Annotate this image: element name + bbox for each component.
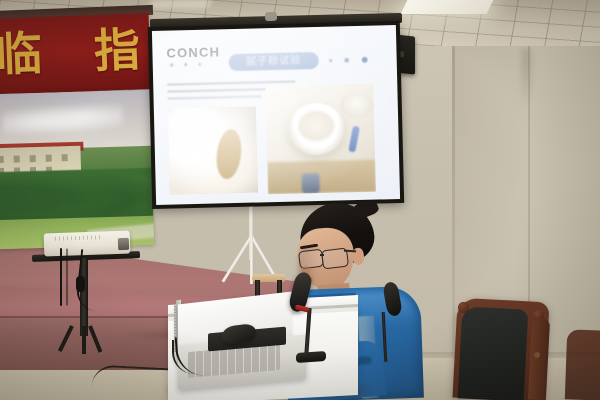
logo-subtext-marks <box>168 62 214 68</box>
glasses-bridge <box>320 254 324 256</box>
chair-stud <box>534 352 540 358</box>
chair-secondary <box>565 329 600 400</box>
photo-scene: 临 指 CONCH 腻子粉试验 <box>0 0 600 400</box>
microphone-base <box>296 351 326 363</box>
blue-stirring-stick <box>348 126 360 153</box>
projector-screen: CONCH 腻子粉试验 <box>148 21 404 209</box>
projector-plug <box>76 276 85 292</box>
ceiling-light-panel-secondary <box>148 0 212 8</box>
mural-window <box>46 155 52 162</box>
mural-window <box>62 154 68 161</box>
backdrop-mural <box>0 90 154 249</box>
chair-cushion <box>458 306 529 400</box>
chair-knob <box>458 302 469 313</box>
ceiling-light-panel <box>401 0 494 14</box>
foreground-object <box>301 173 319 193</box>
presentation-slide: CONCH 腻子粉试验 <box>152 25 400 205</box>
secondary-container <box>339 92 374 119</box>
mural-clouds <box>2 105 123 134</box>
conch-logo: CONCH <box>166 44 220 60</box>
projector-cable <box>60 248 62 306</box>
mural-window <box>14 155 20 162</box>
projector-stand-leg <box>82 326 86 354</box>
projector-lens <box>118 238 129 250</box>
banner-text: 临 指 <box>0 19 147 85</box>
slide-decoration-dots <box>327 56 371 65</box>
powder-texture <box>168 106 258 194</box>
mural-window <box>0 156 4 163</box>
mural-window <box>30 155 36 162</box>
photo-table <box>267 160 376 195</box>
wall-stain <box>520 48 536 108</box>
slide-title: 腻子粉试验 <box>228 52 318 71</box>
wall-corner <box>452 44 455 364</box>
slide-photo-powder <box>168 106 258 194</box>
screen-knob <box>265 12 277 21</box>
slide-photo-mixing <box>265 84 376 195</box>
